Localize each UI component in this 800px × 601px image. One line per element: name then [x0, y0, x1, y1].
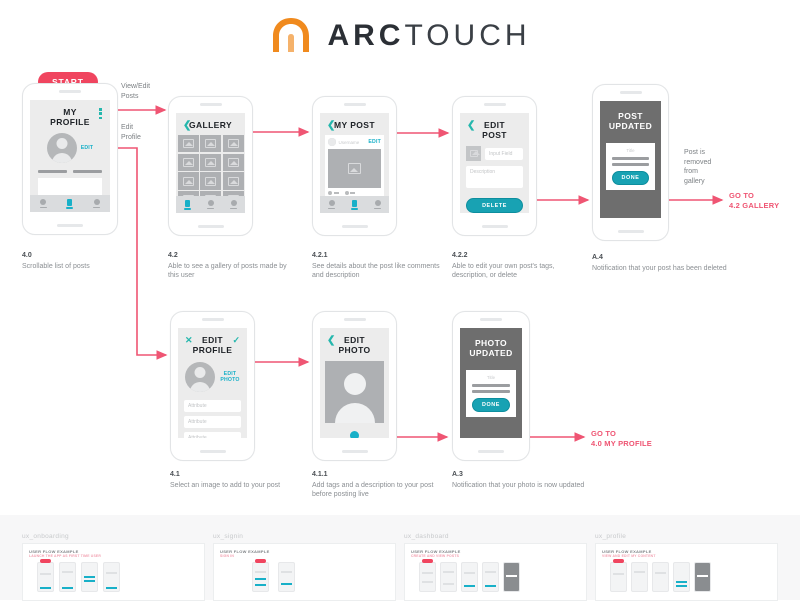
- caption-post-updated: A.4 Notification that your post has been…: [592, 253, 727, 273]
- image-icon: [228, 139, 239, 148]
- nav-item-profile[interactable]: [66, 199, 73, 209]
- modal-title: Title: [612, 148, 649, 153]
- caption-code: 4.1.1: [312, 470, 445, 480]
- gallery-cell[interactable]: [200, 172, 221, 189]
- bottom-nav: [320, 196, 389, 213]
- caption-my-profile: 4.0 Scrollable list of posts: [22, 251, 142, 271]
- thumb-subtitle: CREATE AND VIEW POSTS: [411, 554, 580, 558]
- thumb-phones: [220, 562, 389, 592]
- screen-edit-profile: ✕ ✓ EDIT PROFILE EDIT PHOTO Attribute At…: [178, 328, 247, 438]
- gallery-cell[interactable]: [223, 172, 244, 189]
- input-field-description[interactable]: Description: [466, 166, 523, 188]
- edit-profile-link[interactable]: EDIT: [81, 145, 94, 151]
- gallery-cell[interactable]: [178, 135, 199, 152]
- phone-speaker: [484, 103, 506, 106]
- phone-photo-updated: PHOTO UPDATED Title DONE: [452, 311, 530, 461]
- gallery-cell[interactable]: [223, 154, 244, 171]
- thumb-subtitle: LAUNCH THE APP AS FIRST TIME USER: [29, 554, 198, 558]
- caption-photo-updated: A.3 Notification that your photo is now …: [452, 470, 585, 490]
- nav-item-settings[interactable]: [230, 200, 237, 209]
- capture-button[interactable]: [350, 431, 359, 438]
- nav-item-profile[interactable]: [207, 200, 214, 209]
- mini-phone: [631, 562, 648, 592]
- phone-my-post: ❮ MY POST Username EDIT Comments: [312, 96, 397, 236]
- caption-edit-post: 4.2.2 Able to edit your own post's tags,…: [452, 251, 582, 281]
- caption-code: A.4: [592, 253, 727, 263]
- avatar-head: [344, 373, 366, 395]
- phone-home-indicator: [57, 224, 83, 227]
- caption-gallery: 4.2 Able to see a gallery of posts made …: [168, 251, 296, 281]
- nav-item-gallery[interactable]: [328, 200, 335, 209]
- thumb-subtitle: VIEW AND EDIT MY CONTENT: [602, 554, 771, 558]
- caption-text: See details about the post like comments…: [312, 263, 440, 280]
- image-icon: [205, 139, 216, 148]
- back-chevron-icon[interactable]: ❮: [327, 336, 335, 346]
- filmstrip-label: ux_profile: [595, 533, 778, 540]
- phone-home-indicator: [478, 450, 504, 453]
- caption-code: A.3: [452, 470, 585, 480]
- post-username: Username: [339, 140, 366, 145]
- screen-edit-post: ❮ EDIT POST Input Field Description DELE…: [460, 113, 529, 213]
- mini-phone: [37, 562, 54, 592]
- nav-item-gallery[interactable]: [40, 199, 47, 208]
- filmstrip-thumb: USER FLOW EXAMPLE SIGN IN: [213, 543, 396, 601]
- caption-edit-profile: 4.1 Select an image to add to your post: [170, 470, 303, 490]
- mini-phone: [81, 562, 98, 592]
- filmstrip-label: ux_signin: [213, 533, 396, 540]
- phone-home-indicator: [342, 225, 368, 228]
- phone-edit-post: ❮ EDIT POST Input Field Description DELE…: [452, 96, 537, 236]
- mini-phone: [503, 562, 520, 592]
- stat-bar: [73, 170, 102, 173]
- comment-action[interactable]: [345, 191, 356, 195]
- image-icon: [348, 163, 361, 174]
- phone-speaker: [202, 318, 224, 321]
- note-post-removed: Post is removed from gallery: [684, 148, 711, 186]
- nav-item-profile[interactable]: [351, 200, 358, 210]
- gallery-cell[interactable]: [200, 154, 221, 171]
- caption-text: Notification that your post has been del…: [592, 265, 727, 272]
- page-title: POST UPDATED: [600, 101, 661, 131]
- phone-gallery: ❮ GALLERY: [168, 96, 253, 236]
- back-chevron-icon[interactable]: ❮: [327, 121, 335, 131]
- avatar-body: [335, 403, 375, 423]
- modal-title: Title: [472, 375, 510, 380]
- avatar: [185, 362, 215, 392]
- attribute-field[interactable]: Attribute: [184, 400, 241, 412]
- caption-code: 4.2.1: [312, 251, 440, 261]
- thumb-phones: [411, 562, 580, 592]
- mini-phone: [673, 562, 690, 592]
- caption-text: Able to see a gallery of posts made by t…: [168, 263, 287, 280]
- mini-phone: [278, 562, 295, 592]
- check-icon[interactable]: ✓: [232, 335, 240, 346]
- mini-phone: [252, 562, 269, 592]
- goto-my-profile-label: GO TO 4.0 MY PROFILE: [591, 429, 652, 448]
- modal-line: [612, 157, 649, 160]
- arc-swirl-logo-icon: [269, 14, 313, 58]
- brand-touch: TOUCH: [404, 19, 530, 52]
- phone-my-profile: MY PROFILE EDIT: [22, 83, 118, 235]
- attribute-field[interactable]: Attribute: [184, 432, 241, 438]
- bottom-nav: [176, 196, 245, 213]
- caption-text: Able to edit your own post's tags, descr…: [452, 263, 555, 280]
- screen-my-post: ❮ MY POST Username EDIT Comments: [320, 113, 389, 213]
- filmstrip-thumb: USER FLOW EXAMPLE VIEW AND EDIT MY CONTE…: [595, 543, 778, 601]
- image-icon: [470, 150, 478, 157]
- done-button[interactable]: DONE: [612, 171, 649, 185]
- phone-home-indicator: [198, 225, 224, 228]
- page-title: PHOTO UPDATED: [460, 328, 522, 358]
- phone-home-indicator: [482, 225, 508, 228]
- gallery-cell[interactable]: [178, 154, 199, 171]
- brand-header: ARCTOUCH: [0, 14, 800, 58]
- modal-line: [612, 163, 649, 166]
- nav-item-settings[interactable]: [93, 199, 100, 208]
- edit-post-link[interactable]: EDIT: [368, 139, 381, 145]
- thumb-phones: [29, 562, 198, 592]
- post-thumbnail[interactable]: [466, 146, 481, 161]
- modal-line: [472, 390, 510, 393]
- flow-connectors: [0, 0, 800, 600]
- filmstrip-card-onboarding[interactable]: ux_onboarding USER FLOW EXAMPLE LAUNCH T…: [22, 533, 205, 600]
- phone-speaker: [480, 318, 502, 321]
- image-icon: [183, 158, 194, 167]
- caption-code: 4.2: [168, 251, 296, 261]
- caption-text: Add tags and a description to your post …: [312, 482, 433, 499]
- mini-phone: [103, 562, 120, 592]
- close-icon[interactable]: ✕: [185, 335, 193, 346]
- flow-label-edit-profile: Edit Profile: [121, 123, 141, 142]
- brand-wordmark: ARCTOUCH: [327, 19, 530, 53]
- confirmation-modal: Title DONE: [606, 143, 655, 190]
- image-icon: [228, 177, 239, 186]
- thumb-phones: [602, 562, 771, 592]
- image-icon: [228, 158, 239, 167]
- filmstrip-card-signin[interactable]: ux_signin USER FLOW EXAMPLE SIGN IN: [213, 533, 396, 600]
- caption-code: 4.2.2: [452, 251, 582, 261]
- gallery-cell[interactable]: [178, 172, 199, 189]
- phone-edit-profile: ✕ ✓ EDIT PROFILE EDIT PHOTO Attribute At…: [170, 311, 255, 461]
- delete-button[interactable]: DELETE: [466, 198, 523, 213]
- modal-line: [472, 384, 510, 387]
- filmstrip: ux_onboarding USER FLOW EXAMPLE LAUNCH T…: [0, 515, 800, 600]
- phone-home-indicator: [200, 450, 226, 453]
- gallery-cell[interactable]: [200, 135, 221, 152]
- caption-code: 4.1: [170, 470, 303, 480]
- goto-gallery-label: GO TO 4.2 GALLERY: [729, 191, 779, 210]
- attribute-field[interactable]: Attribute: [184, 416, 241, 428]
- screen-my-profile: MY PROFILE EDIT: [30, 100, 110, 212]
- filmstrip-label: ux_onboarding: [22, 533, 205, 540]
- nav-item-gallery[interactable]: [184, 200, 191, 210]
- image-icon: [183, 177, 194, 186]
- like-action[interactable]: [328, 191, 339, 195]
- screen-gallery: ❮ GALLERY: [176, 113, 245, 213]
- phone-speaker: [344, 103, 366, 106]
- mini-phone: [652, 562, 669, 592]
- mini-phone: [419, 562, 436, 592]
- caption-text: Select an image to add to your post: [170, 482, 280, 489]
- stat-bar: [38, 170, 67, 173]
- filmstrip-thumb: USER FLOW EXAMPLE LAUNCH THE APP AS FIRS…: [22, 543, 205, 601]
- photo-preview[interactable]: [325, 361, 384, 423]
- phone-speaker: [344, 318, 366, 321]
- mini-phone: [694, 562, 711, 592]
- filmstrip-label: ux_dashboard: [404, 533, 587, 540]
- overflow-menu-icon[interactable]: [99, 108, 102, 119]
- back-chevron-icon[interactable]: ❮: [183, 121, 191, 131]
- confirmation-modal: Title DONE: [466, 370, 516, 417]
- input-field-tags[interactable]: Input Field: [485, 148, 523, 160]
- image-icon: [205, 158, 216, 167]
- filmstrip-card-profile[interactable]: ux_profile USER FLOW EXAMPLE VIEW AND ED…: [595, 533, 778, 600]
- edit-photo-link[interactable]: EDIT PHOTO: [220, 371, 239, 383]
- post-image: [328, 149, 381, 188]
- filmstrip-card-dashboard[interactable]: ux_dashboard USER FLOW EXAMPLE CREATE AN…: [404, 533, 587, 600]
- mini-phone: [461, 562, 478, 592]
- image-icon: [183, 139, 194, 148]
- caption-edit-photo: 4.1.1 Add tags and a description to your…: [312, 470, 445, 500]
- mini-phone: [440, 562, 457, 592]
- phone-speaker: [620, 91, 642, 94]
- caption-my-post: 4.2.1 See details about the post like co…: [312, 251, 440, 281]
- screen-post-updated: POST UPDATED Title DONE: [600, 101, 661, 218]
- phone-home-indicator: [618, 230, 644, 233]
- gallery-cell[interactable]: [223, 135, 244, 152]
- thumb-subtitle: SIGN IN: [220, 554, 389, 558]
- mini-phone: [482, 562, 499, 592]
- phone-post-updated: POST UPDATED Title DONE: [592, 84, 669, 241]
- page-title: MY PROFILE: [30, 100, 110, 127]
- mini-phone: [610, 562, 627, 592]
- filmstrip-thumb: USER FLOW EXAMPLE CREATE AND VIEW POSTS: [404, 543, 587, 601]
- avatar: [328, 138, 336, 146]
- phone-edit-photo: ❮ EDIT PHOTO: [312, 311, 397, 461]
- caption-code: 4.0: [22, 251, 142, 261]
- back-chevron-icon[interactable]: ❮: [467, 121, 475, 131]
- screen-photo-updated: PHOTO UPDATED Title DONE: [460, 328, 522, 438]
- phone-speaker: [59, 90, 81, 93]
- avatar: [47, 133, 77, 163]
- brand-arc: ARC: [327, 19, 404, 52]
- nav-item-settings[interactable]: [374, 200, 381, 209]
- mini-phone: [59, 562, 76, 592]
- bottom-nav: [30, 195, 110, 212]
- phone-speaker: [200, 103, 222, 106]
- screen-edit-photo: ❮ EDIT PHOTO: [320, 328, 389, 438]
- phone-home-indicator: [342, 450, 368, 453]
- user-flow-diagram: ARCTOUCH START Vi: [0, 0, 800, 600]
- caption-text: Notification that your photo is now upda…: [452, 482, 584, 489]
- image-icon: [205, 177, 216, 186]
- done-button[interactable]: DONE: [472, 398, 510, 412]
- caption-text: Scrollable list of posts: [22, 263, 90, 270]
- flow-label-view-edit-posts: View/Edit Posts: [121, 82, 150, 101]
